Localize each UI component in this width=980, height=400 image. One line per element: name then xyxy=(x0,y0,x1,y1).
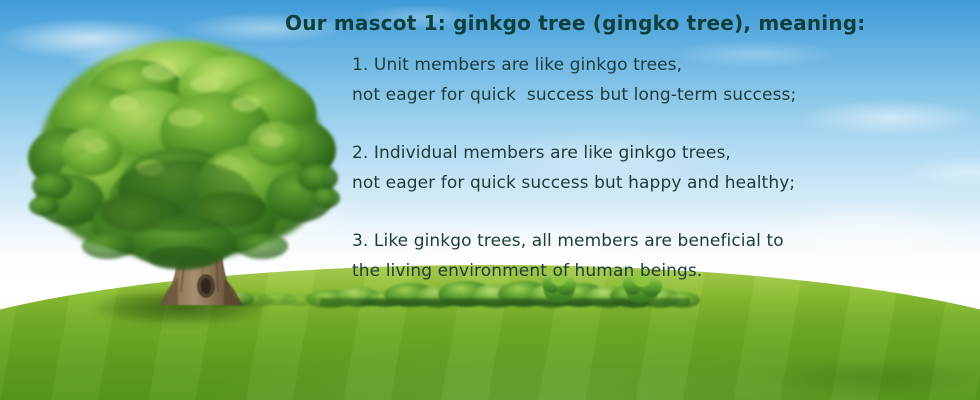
banner-image: Our mascot 1: ginkgo tree (gingko tree),… xyxy=(0,0,980,400)
text-line: 3. Like ginkgo trees, all members are be… xyxy=(352,226,972,256)
list-item: 3. Like ginkgo trees, all members are be… xyxy=(352,226,972,286)
cloud-icon xyxy=(40,40,240,80)
cloud-icon xyxy=(0,10,220,68)
cloud-icon xyxy=(0,130,270,210)
text-line: not eager for quick success but happy an… xyxy=(352,168,972,198)
mascot-meaning-list: 1. Unit members are like ginkgo trees, n… xyxy=(352,50,972,286)
text-line: 1. Unit members are like ginkgo trees, xyxy=(352,50,972,80)
list-item: 2. Individual members are like ginkgo tr… xyxy=(352,138,972,198)
text-line: 2. Individual members are like ginkgo tr… xyxy=(352,138,972,168)
list-item: 1. Unit members are like ginkgo trees, n… xyxy=(352,50,972,110)
text-line: the living environment of human beings. xyxy=(352,256,972,286)
text-line: not eager for quick success but long-ter… xyxy=(352,80,972,110)
page-title: Our mascot 1: ginkgo tree (gingko tree),… xyxy=(285,11,865,35)
